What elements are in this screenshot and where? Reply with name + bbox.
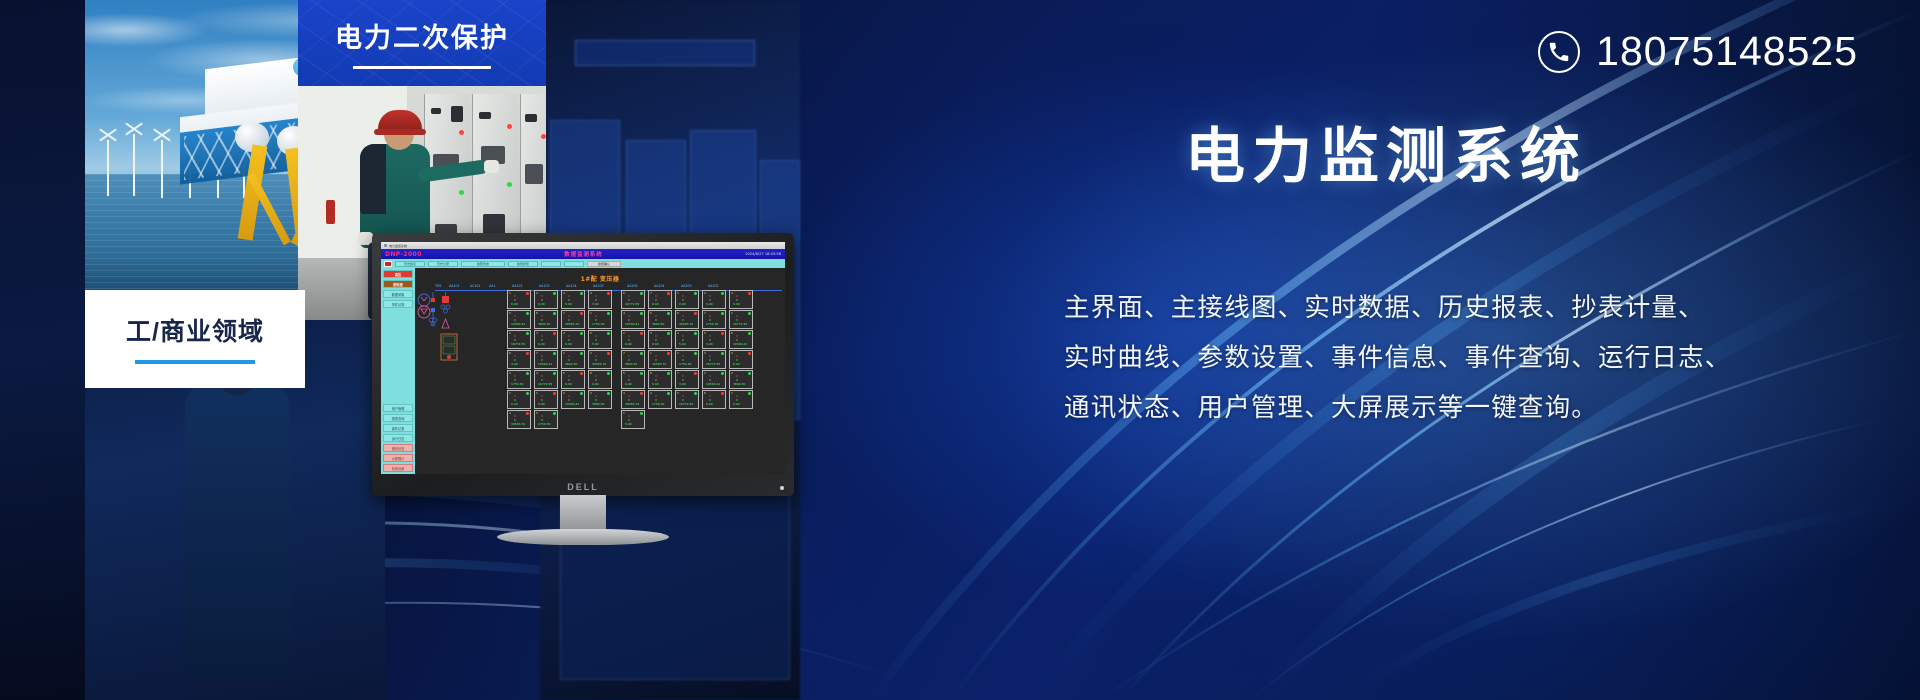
sidebar-item-1[interactable]: 配电室 [383, 280, 413, 288]
transformer-schematic [415, 286, 459, 376]
feeder-cell[interactable]: 2IIII10500.41 [561, 390, 585, 409]
feeder-cell[interactable]: 2IIII6.00 [621, 330, 645, 349]
sidebar-item-0[interactable]: 高压 [383, 270, 413, 278]
feeder-cell[interactable]: 3IIII3894.50 [588, 390, 612, 409]
feeder-cell[interactable]: 4IIII0.00 [561, 330, 585, 349]
desktop-monitor: 电力监控系统 DNP-2000 数据监测系统 2024/6/27 18:43:5… [372, 233, 794, 555]
stop-button[interactable] [384, 261, 392, 267]
feeder-cell[interactable]: 6IIII3.00 [507, 350, 531, 369]
scada-system-title: 数据监测系统 [564, 250, 602, 258]
toolbar-spacer-a [541, 261, 561, 267]
scada-toolbar[interactable]: 历史报表 历史记录 故障录波 故障类型 故障确认 [381, 259, 785, 268]
feeder-cell[interactable]: 4IIII1750.30 [648, 390, 672, 409]
scada-brand-tag: DNP-2000 [385, 251, 422, 258]
description-line-3: 通讯状态、用户管理、大屏展示等一键查询。 [1064, 383, 1904, 433]
feeder-cell[interactable]: 1IIII3894.50 [561, 350, 585, 369]
description-line-2: 实时曲线、参数设置、事件信息、事件查询、运行日志、 [1064, 333, 1904, 383]
feeder-cell[interactable]: 1IIII6.00 [507, 290, 531, 309]
feeder-cell[interactable]: 6IIII0.00 [588, 370, 612, 389]
feeder-cell[interactable]: 3IIII3.00 [729, 290, 753, 309]
sidebar-item-5[interactable]: 报表查询 [383, 414, 413, 422]
feeder-cell[interactable]: 7IIII10500.41 [534, 350, 558, 369]
feeder-cell[interactable]: 6IIII5.00 [648, 370, 672, 389]
feeder-cell[interactable]: 2IIII1750.30 [675, 350, 699, 369]
feeder-label-8: AA205 [627, 284, 638, 288]
page-title: 电力监测系统 [1185, 108, 1587, 195]
feeder-cell[interactable]: 3IIII6.00 [534, 330, 558, 349]
feeder-cell[interactable]: 1IIII1750.30 [588, 310, 612, 329]
feeder-cell[interactable]: 1IIII3.00 [534, 390, 558, 409]
feeder-cell[interactable]: 5IIII10500.41 [507, 310, 531, 329]
toolbar-item-0[interactable]: 历史报表 [395, 261, 425, 267]
feeder-label-7: AA105 [593, 284, 604, 288]
feeder-label-10: AA203 [681, 284, 692, 288]
toolbar-item-4[interactable]: 故障确认 [587, 261, 621, 267]
feeder-cell[interactable]: 1IIII16772.55 [729, 310, 753, 329]
card-white-underline [135, 360, 255, 364]
feeder-label-11: AA202 [708, 284, 719, 288]
feeder-label-5: AA103 [539, 284, 550, 288]
feeder-cell[interactable]: 1IIII5.00 [621, 410, 645, 429]
power-monitoring-banner: 电力二次保护 工/商业领域 电力监控系统 DNP-2000 [0, 0, 1920, 700]
card-blue-underline [353, 66, 491, 69]
feeder-cell[interactable]: 5IIII3894.50 [648, 310, 672, 329]
feeder-cell[interactable]: 3IIII39563.70 [621, 390, 645, 409]
card-power-secondary-protection[interactable]: 电力二次保护 [298, 0, 546, 86]
scada-body: 高压 配电室 数据采集 事件记录 用户管理 报表查询 操作记录 运行日志 通讯状… [381, 268, 785, 474]
scada-window-titlebar: 电力监控系统 [381, 242, 785, 249]
toolbar-item-3[interactable]: 故障类型 [508, 261, 538, 267]
feeder-cell[interactable]: 7IIII3.00 [675, 370, 699, 389]
contact-phone[interactable]: 18075148525 [1538, 28, 1858, 75]
monitor-brand-logo: DELL [567, 482, 599, 492]
feeder-cell[interactable]: 5IIII3.00 [702, 330, 726, 349]
feeder-label-0: TM1 [435, 284, 442, 288]
scada-window-title: 电力监控系统 [389, 244, 407, 248]
feeder-cell[interactable]: 2IIII5.00 [702, 290, 726, 309]
feeder-cell[interactable]: 2IIII39563.70 [588, 350, 612, 369]
monitor-bezel: 电力监控系统 DNP-2000 数据监测系统 2024/6/27 18:43:5… [372, 233, 794, 496]
toolbar-item-2[interactable]: 故障录波 [461, 261, 505, 267]
feeder-label-3: AA1 [489, 284, 495, 288]
window-app-icon [384, 244, 387, 247]
scada-timestamp: 2024/6/27 18:43:56 [745, 252, 781, 256]
sidebar-item-4[interactable]: 用户管理 [383, 404, 413, 412]
feeder-cell[interactable]: 4IIII10500.41 [621, 310, 645, 329]
toolbar-item-1[interactable]: 历史记录 [428, 261, 458, 267]
feeder-cell[interactable]: 6IIII3894.50 [534, 310, 558, 329]
feeder-cell[interactable]: 3IIII0.00 [648, 330, 672, 349]
scada-header: DNP-2000 数据监测系统 2024/6/27 18:43:56 [381, 249, 785, 259]
left-dark-strip [0, 0, 90, 700]
feeder-cell[interactable]: 2IIII16772.55 [507, 330, 531, 349]
feeder-label-6: AA104 [566, 284, 577, 288]
feeder-cell[interactable]: 6IIII16772.55 [621, 290, 645, 309]
scada-diagram-area[interactable]: 1#配 变压器 [415, 268, 785, 474]
card-white-label: 工/商业领域 [85, 312, 305, 348]
feeder-cell[interactable]: 6IIII39563.70 [675, 310, 699, 329]
sidebar-item-7[interactable]: 运行日志 [383, 434, 413, 442]
diagram-title: 1#配 变压器 [581, 274, 620, 283]
feeder-cell[interactable]: 4IIII16772.55 [534, 370, 558, 389]
feeder-cell[interactable]: 2IIII3894.50 [729, 370, 753, 389]
monitor-stand-neck [560, 495, 606, 533]
feeder-cell[interactable]: 1IIII0.00 [675, 290, 699, 309]
feeder-cell[interactable]: 4IIII3.00 [588, 290, 612, 309]
feeder-label-1: AA101 [449, 284, 460, 288]
feeder-cell[interactable]: 7IIII39563.70 [561, 310, 585, 329]
feeder-cell[interactable]: 5IIII16772.55 [675, 390, 699, 409]
scada-sidebar[interactable]: 高压 配电室 数据采集 事件记录 用户管理 报表查询 操作记录 运行日志 通讯状… [381, 268, 415, 474]
monitor-screen[interactable]: 电力监控系统 DNP-2000 数据监测系统 2024/6/27 18:43:5… [381, 242, 785, 474]
sidebar-item-8[interactable]: 通讯状态 [383, 444, 413, 452]
phone-number: 18075148525 [1596, 28, 1858, 75]
feeder-cell[interactable]: 6IIII6.00 [702, 390, 726, 409]
feeder-label-4: AA102 [512, 284, 523, 288]
feeder-cell[interactable]: 5IIII5.00 [588, 330, 612, 349]
feeder-cell[interactable]: 6IIII10500.41 [729, 330, 753, 349]
feeder-cell[interactable]: 7IIII6.00 [648, 290, 672, 309]
fire-extinguisher [326, 200, 335, 224]
feeder-cell[interactable]: 3IIII5.00 [561, 290, 585, 309]
sidebar-item-3[interactable]: 事件记录 [383, 300, 413, 308]
feeder-cell[interactable]: 5IIII6.00 [561, 370, 585, 389]
monitor-power-led [780, 486, 784, 490]
phone-circle-icon [1538, 31, 1580, 73]
sidebar-item-2[interactable]: 数据采集 [383, 290, 413, 298]
feeder-cell[interactable]: 1IIII39563.70 [648, 350, 672, 369]
card-industrial-commercial[interactable]: 工/商业领域 [85, 290, 305, 388]
feeder-cell[interactable]: 5IIII0.00 [621, 370, 645, 389]
sidebar-item-6[interactable]: 操作记录 [383, 424, 413, 432]
description-line-1: 主界面、主接线图、实时数据、历史报表、抄表计量、 [1064, 283, 1904, 333]
feeder-cell[interactable]: 7IIII5.00 [507, 390, 531, 409]
feeder-cell[interactable]: 7IIII0.00 [729, 390, 753, 409]
scada-application[interactable]: 电力监控系统 DNP-2000 数据监测系统 2024/6/27 18:43:5… [381, 242, 785, 474]
card-blue-label: 电力二次保护 [298, 16, 546, 55]
monitor-stand-base [497, 529, 669, 545]
feeder-label-2: AC101 [470, 284, 480, 288]
sidebar-item-10[interactable]: 系统设置 [383, 464, 413, 472]
toolbar-spacer-b [564, 261, 584, 267]
feeder-cell[interactable]: 3IIII16772.55 [702, 350, 726, 369]
facility-sign [575, 40, 755, 66]
feeder-cell[interactable]: 3IIII1750.30 [507, 370, 531, 389]
feeder-cell[interactable]: 2IIII0.00 [534, 290, 558, 309]
feeder-cell[interactable]: 7IIII1750.30 [702, 310, 726, 329]
feeder-cell[interactable]: 4IIII39563.70 [507, 410, 531, 429]
feature-description: 主界面、主接线图、实时数据、历史报表、抄表计量、 实时曲线、参数设置、事件信息、… [1064, 283, 1904, 433]
feeder-cell[interactable]: 1IIII10500.41 [702, 370, 726, 389]
right-content: 18075148525 电力监测系统 主界面、主接线图、实时数据、历史报表、抄表… [1060, 0, 1920, 700]
feeder-label-9: AA204 [654, 284, 665, 288]
feeder-cell[interactable]: 4IIII6.00 [729, 350, 753, 369]
photo-collage: 电力二次保护 工/商业领域 电力监控系统 DNP-2000 [0, 0, 800, 700]
sidebar-item-9[interactable]: 大屏展示 [383, 454, 413, 462]
feeder-cell[interactable]: 4IIII5.00 [675, 330, 699, 349]
feeder-cell[interactable]: 7IIII3894.50 [621, 350, 645, 369]
feeder-cell[interactable]: 5IIII1750.30 [534, 410, 558, 429]
